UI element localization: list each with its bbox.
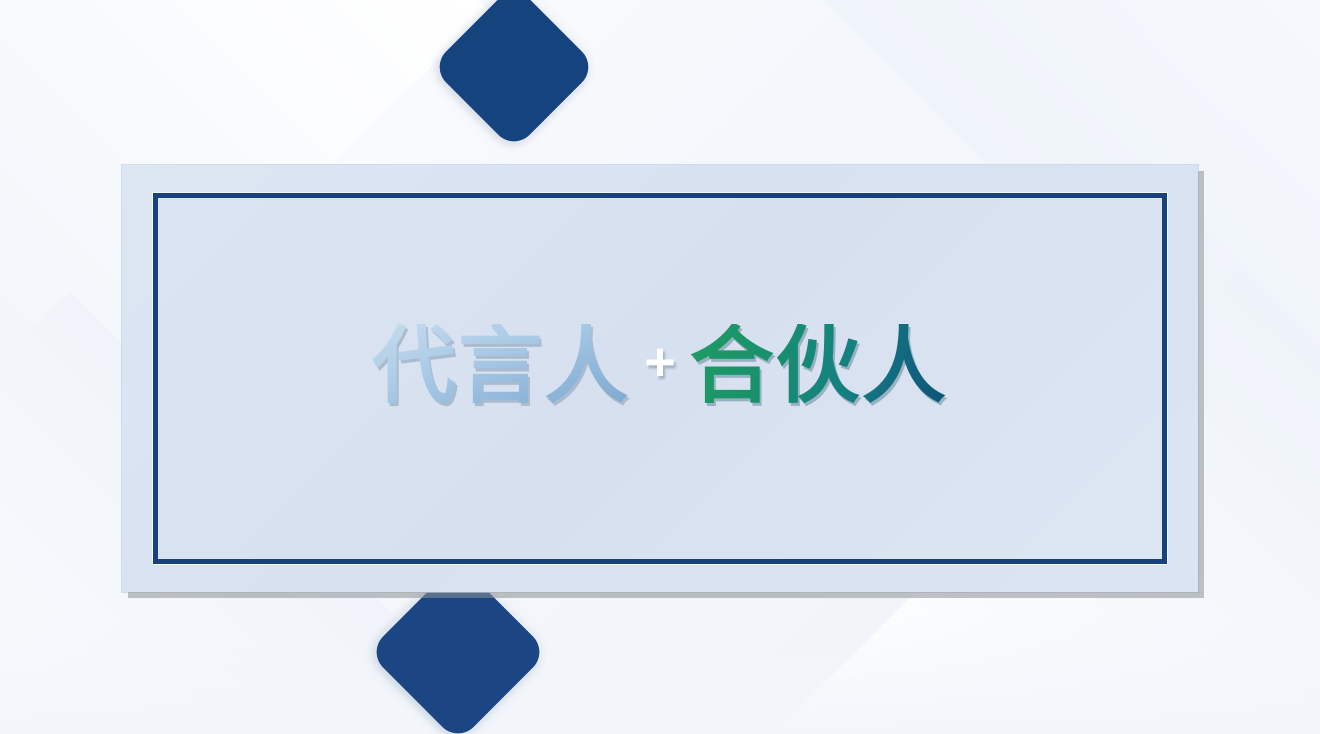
plus-icon: + — [644, 335, 676, 389]
headline-primary-text: 代言人 — [372, 324, 630, 408]
slide-canvas: 代言人 + 合伙人 — [0, 0, 1320, 734]
headline-secondary-text: 合伙人 — [690, 324, 948, 408]
background-bottom-band — [0, 614, 1320, 734]
headline: 代言人 + 合伙人 — [0, 324, 1320, 408]
